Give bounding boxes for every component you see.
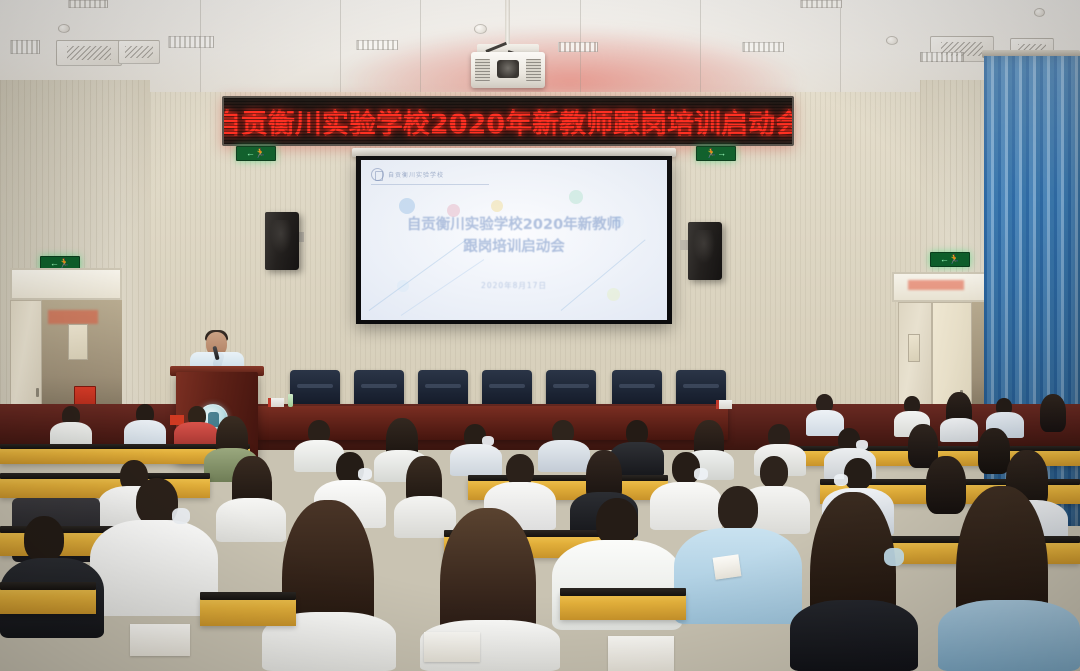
wall-speaker-right (688, 222, 722, 280)
projection-screen-surface: 自贡衡川实验学校 自贡衡川实验学校2020年新教师 跟岗培训启动会 2020年8… (361, 160, 667, 320)
exit-sign-side-right: ←🏃 (930, 252, 970, 267)
corridor-signage (48, 310, 98, 324)
slide-decoration (569, 190, 583, 204)
smoke-detector-icon (886, 36, 898, 45)
slide-title: 自贡衡川实验学校2020年新教师 跟岗培训启动会 (361, 214, 667, 259)
led-banner-text: 自贡衡川实验学校2020年新教师跟岗培训启动会 (222, 102, 794, 141)
desk-edge (0, 473, 210, 479)
ceiling-light (68, 0, 108, 8)
ceiling-seam (200, 0, 201, 96)
exit-running-man-icon: ←🏃 (50, 259, 70, 268)
smoke-detector-icon (58, 24, 70, 33)
lecture-desk (0, 586, 96, 614)
corridor-notice-board (68, 324, 88, 360)
person-body (650, 482, 722, 530)
ceiling-seam (700, 0, 701, 96)
desk-edge (0, 444, 250, 449)
person-body (790, 600, 918, 671)
exit-running-man-icon: ←🏃 (246, 149, 266, 158)
desk-edge (560, 588, 686, 596)
person-hair (1040, 394, 1066, 432)
ceiling-seam (840, 0, 841, 96)
smoke-detector-icon (1034, 8, 1045, 17)
ceiling-seam (340, 0, 341, 96)
person-hair (926, 456, 966, 514)
face-mask (834, 474, 848, 486)
person-body (806, 410, 844, 436)
face-mask (694, 468, 708, 480)
person-body (938, 600, 1080, 671)
led-banner: 自贡衡川实验学校2020年新教师跟岗培训启动会 (222, 96, 794, 146)
desk-edge (0, 582, 96, 590)
person-head (24, 516, 64, 562)
person-head (760, 456, 788, 488)
name-placard (268, 398, 284, 407)
slide-title-line-1: 自贡衡川实验学校2020年新教师 (377, 214, 651, 236)
slide-logo-text: 自贡衡川实验学校 (388, 170, 444, 179)
door-vision-panel (908, 334, 920, 362)
door-transom-left (10, 268, 122, 300)
exit-sign-front-right: 🏃→ (696, 146, 736, 161)
exit-sign-front-left: ←🏃 (236, 146, 276, 161)
air-vent-icon (118, 40, 160, 64)
ceiling-light (920, 52, 964, 62)
lecture-hall-photo: 自贡衡川实验学校2020年新教师跟岗培训启动会 ←🏃 🏃→ 自贡衡川实验学校 (0, 0, 1080, 671)
ceiling-light (356, 40, 398, 50)
person-head (844, 458, 872, 490)
ceiling-light (800, 0, 842, 8)
slide-logo: 自贡衡川实验学校 (371, 168, 444, 181)
lecture-desk (200, 596, 296, 626)
slide-decoration (491, 200, 503, 212)
person-body (940, 418, 978, 442)
smoke-detector-icon (474, 24, 487, 34)
exit-running-man-icon: ←🏃 (940, 255, 960, 264)
corridor-signage (908, 280, 964, 290)
slide-logo-divider (371, 184, 489, 185)
school-crest-icon (371, 168, 384, 181)
door-handle-left[interactable] (36, 388, 39, 397)
air-vent-icon (56, 40, 122, 66)
face-mask (358, 468, 372, 480)
speaker-bracket-right (680, 240, 688, 250)
water-bottle (288, 394, 293, 407)
name-placard (716, 400, 732, 409)
ceiling-light (168, 36, 214, 48)
slide-title-line-2: 跟岗培训启动会 (377, 236, 651, 258)
ceiling-seam (420, 0, 421, 96)
person-hair (978, 428, 1010, 474)
person-body (538, 440, 590, 472)
lecture-desk (560, 592, 686, 620)
ceiling-light (10, 40, 40, 54)
person-head (718, 486, 758, 532)
face-mask (172, 508, 190, 524)
desk-edge (200, 592, 296, 600)
projector-mount-rod (505, 0, 510, 46)
projector-lens (497, 60, 519, 78)
handout-paper (130, 624, 190, 656)
wall-speaker-left (265, 212, 299, 270)
desk-edge (468, 475, 668, 481)
handout-paper (424, 632, 480, 662)
ceiling-light (558, 42, 598, 52)
projection-screen: 自贡衡川实验学校 自贡衡川实验学校2020年新教师 跟岗培训启动会 2020年8… (356, 156, 672, 324)
exit-running-man-icon: 🏃→ (706, 149, 726, 158)
ceiling-light (742, 42, 784, 52)
slide-subtitle: 2020年8月17日 (361, 280, 667, 291)
person-body (90, 520, 218, 616)
face-mask (884, 548, 904, 566)
person-body (450, 444, 502, 476)
person-body (216, 498, 286, 542)
person-head (596, 498, 638, 546)
slide-decoration (399, 198, 415, 214)
handout-paper (608, 636, 674, 671)
handout-paper (713, 554, 742, 579)
